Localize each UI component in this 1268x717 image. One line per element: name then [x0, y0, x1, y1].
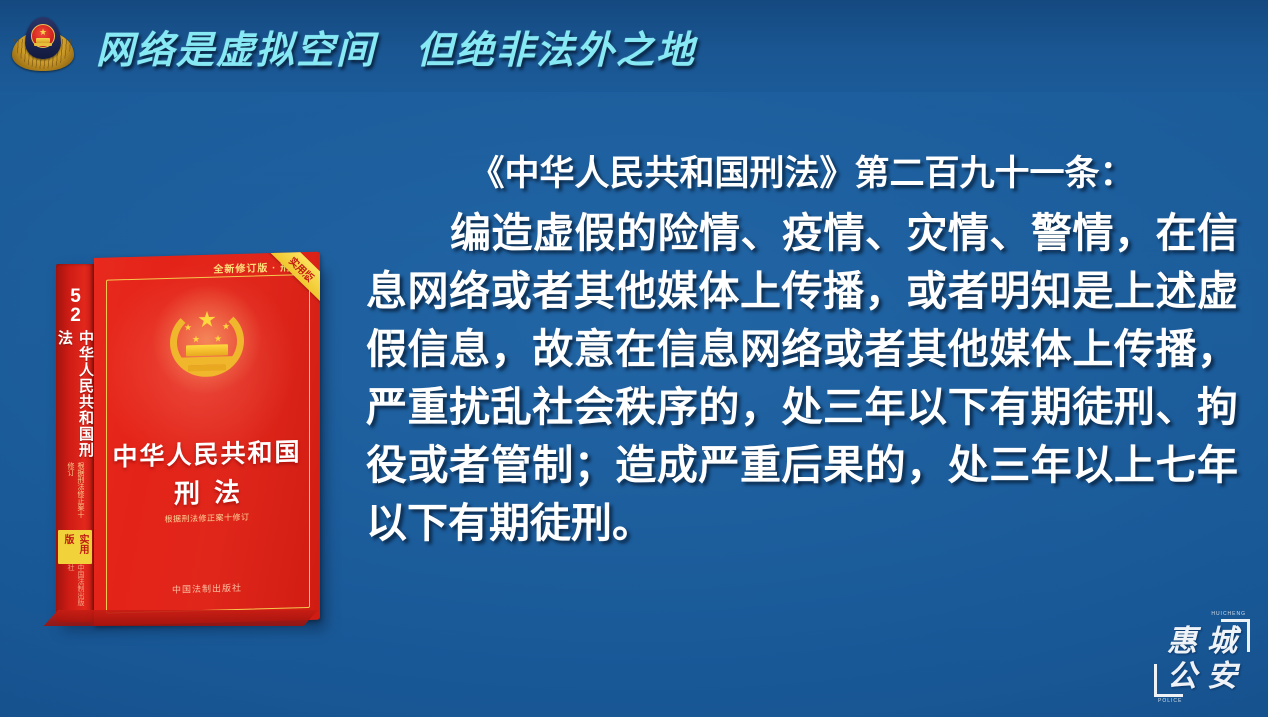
criminal-law-book-image: 52 中华人民共和国刑法 根据刑法修正案十修订 实用版 中国法制出版社 全新修订… [56, 258, 324, 630]
emblem-small-star-icon: ★ [184, 323, 192, 332]
national-emblem-icon: ★ ★ ★ ★ ★ [164, 296, 250, 384]
header-slogan: 网络是虚拟空间 但绝非法外之地 [96, 19, 696, 74]
watermark-char-3: 公 [1162, 660, 1202, 695]
huicheng-police-watermark: HUICHENG 惠 城 公 安 POLICE [1150, 609, 1254, 705]
book-spine: 52 中华人民共和国刑法 根据刑法修正案十修订 实用版 中国法制出版社 [56, 264, 94, 622]
watermark-micro-text-top: HUICHENG [1211, 611, 1246, 617]
emblem-tiananmen-gate [186, 344, 228, 356]
watermark-char-2: 城 [1202, 625, 1242, 660]
watermark-char-4: 安 [1202, 660, 1242, 695]
law-article-body: 编造虚假的险情、疫情、灾情、警情，在信息网络或者其他媒体上传播，或者明知是上述虚… [366, 204, 1238, 552]
emblem-small-star-icon: ★ [214, 334, 222, 343]
book-bottom-edge [44, 610, 318, 626]
spine-publisher: 中国法制出版社 [65, 564, 85, 608]
watermark-characters: 惠 城 公 安 [1162, 625, 1242, 695]
spine-edition-tag: 实用版 [58, 530, 92, 565]
book-cover: 全新修订版 · 刑 法 实用版 ★ ★ ★ ★ ★ 中华人民共和国 刑法 根据刑… [94, 252, 320, 626]
emblem-base-lower [188, 364, 226, 371]
emblem-small-star-icon: ★ [222, 322, 230, 331]
watermark-char-1: 惠 [1162, 625, 1202, 660]
emblem-small-star-icon: ★ [192, 335, 200, 344]
badge-gate-base [34, 43, 52, 46]
spine-series-number: 52 [64, 286, 86, 324]
police-badge-icon: ★ [12, 15, 74, 77]
law-article-block: 《中华人民共和国刑法》第二百九十一条： 编造虚假的险情、疫情、灾情、警情，在信息… [366, 148, 1238, 552]
watermark-micro-text-bottom: POLICE [1158, 698, 1182, 704]
emblem-main-star-icon: ★ [197, 309, 217, 332]
slide-canvas: ★ 网络是虚拟空间 但绝非法外之地 52 中华人民共和国刑法 根据刑法修正案十修… [0, 0, 1268, 717]
law-article-title: 《中华人民共和国刑法》第二百九十一条： [366, 148, 1238, 200]
header-bar: ★ 网络是虚拟空间 但绝非法外之地 [0, 0, 1268, 92]
spine-subtitle: 根据刑法修正案十修订 [65, 462, 85, 524]
cover-title-line1: 中华人民共和国 [94, 432, 320, 474]
cover-title-line2: 刑法 [94, 470, 320, 513]
badge-star-icon: ★ [39, 28, 47, 37]
spine-title: 中华人民共和国刑法 [56, 330, 94, 458]
